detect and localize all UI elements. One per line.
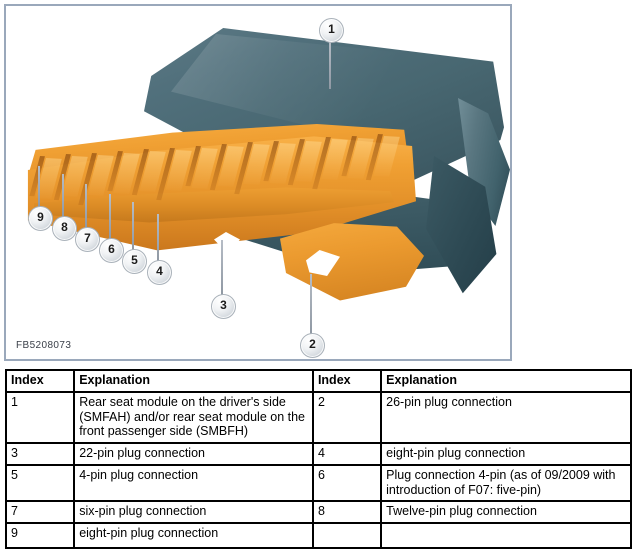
cell-index-left: 7 (6, 501, 74, 523)
cell-explanation-left: 4-pin plug connection (74, 465, 313, 502)
callout-leader-line-1 (329, 41, 331, 89)
callout-leader-line-4 (157, 214, 159, 261)
callout-leader-line-9 (38, 166, 40, 207)
cell-index-right: 6 (313, 465, 381, 502)
callout-marker-5[interactable]: 5 (122, 249, 147, 274)
cell-index-right: 4 (313, 443, 381, 465)
callout-leader-line-5 (132, 202, 134, 250)
cell-explanation-right: 26-pin plug connection (381, 392, 631, 443)
figure-id-label: FB5208073 (16, 340, 71, 351)
header-index-left: Index (6, 370, 74, 392)
cell-index-left: 5 (6, 465, 74, 502)
header-index-right: Index (313, 370, 381, 392)
cell-index-right (313, 523, 381, 548)
cell-explanation-left: Rear seat module on the driver's side (S… (74, 392, 313, 443)
callout-marker-7[interactable]: 7 (75, 227, 100, 252)
figure-panel: 123456789 FB5208073 (4, 4, 512, 361)
callout-marker-9[interactable]: 9 (28, 206, 53, 231)
header-explanation-left: Explanation (74, 370, 313, 392)
legend-row: 322-pin plug connection4eight-pin plug c… (6, 443, 631, 465)
cell-explanation-right: Twelve-pin plug connection (381, 501, 631, 523)
device-illustration: 123456789 FB5208073 (6, 6, 510, 359)
cell-explanation-right: Plug connection 4-pin (as of 09/2009 wit… (381, 465, 631, 502)
legend-row: 1Rear seat module on the driver's side (… (6, 392, 631, 443)
cell-explanation-left: 22-pin plug connection (74, 443, 313, 465)
header-explanation-right: Explanation (381, 370, 631, 392)
cell-explanation-right: eight-pin plug connection (381, 443, 631, 465)
legend-table: Index Explanation Index Explanation 1Rea… (5, 369, 632, 549)
cell-index-right: 8 (313, 501, 381, 523)
cell-index-left: 1 (6, 392, 74, 443)
legend-row: 9eight-pin plug connection (6, 523, 631, 548)
callout-marker-1[interactable]: 1 (319, 18, 344, 43)
legend-row: 7six-pin plug connection8Twelve-pin plug… (6, 501, 631, 523)
legend-header-row: Index Explanation Index Explanation (6, 370, 631, 392)
callout-marker-4[interactable]: 4 (147, 260, 172, 285)
callout-marker-6[interactable]: 6 (99, 238, 124, 263)
callout-leader-line-6 (109, 194, 111, 239)
callout-leader-line-2 (310, 274, 312, 334)
cell-explanation-left: six-pin plug connection (74, 501, 313, 523)
cell-index-left: 3 (6, 443, 74, 465)
cell-explanation-right (381, 523, 631, 548)
callout-marker-8[interactable]: 8 (52, 216, 77, 241)
callout-marker-3[interactable]: 3 (211, 294, 236, 319)
callout-marker-2[interactable]: 2 (300, 333, 325, 358)
cell-explanation-left: eight-pin plug connection (74, 523, 313, 548)
cell-index-left: 9 (6, 523, 74, 548)
legend-row: 54-pin plug connection6Plug connection 4… (6, 465, 631, 502)
callout-leader-line-8 (62, 174, 64, 217)
callout-leader-line-7 (85, 184, 87, 228)
cell-index-right: 2 (313, 392, 381, 443)
callout-leader-line-3 (221, 240, 223, 295)
